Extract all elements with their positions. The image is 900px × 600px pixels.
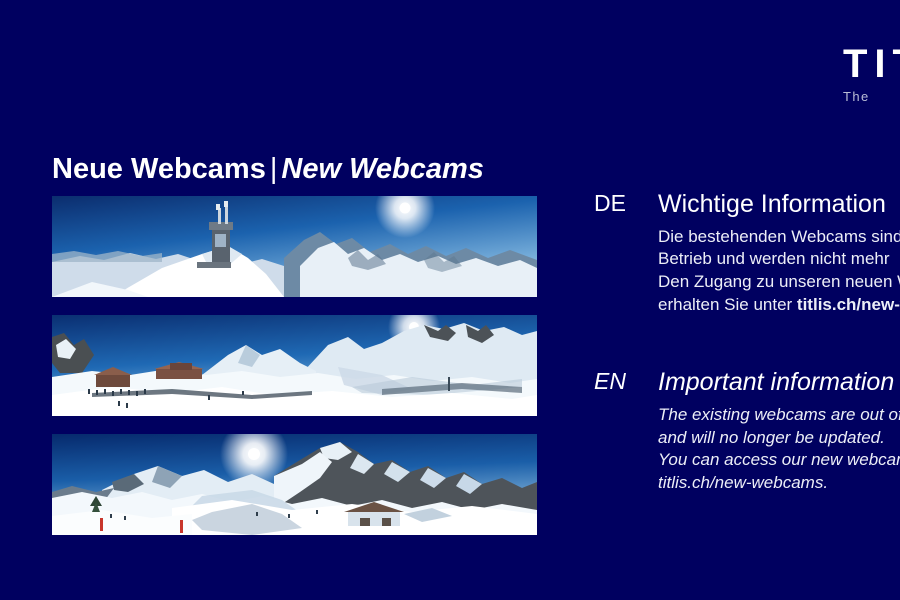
- page-title-german: Neue Webcams: [52, 153, 266, 185]
- webcam-url-en[interactable]: titlis.ch/new-webcams.: [658, 472, 900, 495]
- info-text-en: The existing webcams are out of and will…: [658, 404, 900, 494]
- info-heading-en: Important information: [658, 368, 900, 397]
- webcam-photo-valley: [52, 434, 537, 535]
- info-heading-de: Wichtige Information: [658, 190, 900, 219]
- summit-panorama-art: [52, 196, 537, 297]
- language-label-en: EN: [594, 368, 650, 394]
- webcam-photo-list: [52, 196, 537, 553]
- info-block-en: EN Important information The existing we…: [594, 368, 900, 494]
- page-title-separator: |: [266, 153, 282, 185]
- page-title: Neue Webcams|New Webcams: [52, 152, 484, 187]
- info-line-de-3: Den Zugang zu unseren neuen W: [658, 271, 900, 294]
- info-line-de-1: Die bestehenden Webcams sind: [658, 226, 900, 249]
- info-block-de: DE Wichtige Information Die bestehenden …: [594, 190, 900, 316]
- info-line-de-4-prefix: erhalten Sie unter: [658, 295, 797, 314]
- info-line-de-2: Betrieb und werden nicht mehr: [658, 248, 900, 271]
- slide-canvas: TIT The Neue Webcams|New Webcams: [0, 0, 900, 600]
- language-label-de: DE: [594, 190, 650, 216]
- info-line-en-3: You can access our new webcam: [658, 449, 900, 472]
- titlis-logo: TIT The: [843, 44, 900, 104]
- webcam-url-de[interactable]: titlis.ch/new-w: [797, 295, 900, 314]
- info-column: DE Wichtige Information Die bestehenden …: [594, 190, 900, 494]
- logo-tagline: The: [843, 89, 900, 104]
- page-title-english: New Webcams: [281, 153, 484, 185]
- valley-panorama-art: [52, 434, 537, 535]
- info-text-de: Die bestehenden Webcams sind Betrieb und…: [658, 226, 900, 316]
- info-line-de-4: erhalten Sie unter titlis.ch/new-w: [658, 294, 900, 317]
- webcam-photo-summit: [52, 196, 537, 297]
- logo-wordmark: TIT: [843, 44, 900, 84]
- info-line-en-1: The existing webcams are out of: [658, 404, 900, 427]
- webcam-photo-ski-area: [52, 315, 537, 416]
- ski-area-panorama-art: [52, 315, 537, 416]
- info-line-en-2: and will no longer be updated.: [658, 427, 900, 450]
